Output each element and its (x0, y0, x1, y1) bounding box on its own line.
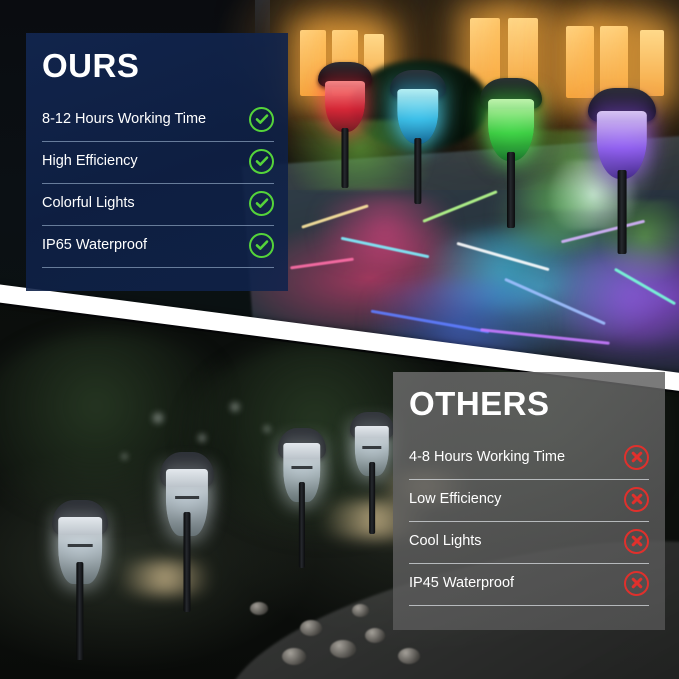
lamp-shade (325, 81, 365, 132)
feature-row: 4-8 Hours Working Time (409, 438, 649, 479)
pebble (282, 648, 306, 665)
lamp-pole (299, 482, 305, 568)
cross-circle-icon (624, 445, 649, 470)
ours-title: OURS (42, 49, 139, 82)
feature-label: High Efficiency (42, 153, 138, 169)
cross-circle-icon (624, 529, 649, 554)
shade-band (68, 544, 93, 547)
feature-row: 8-12 Hours Working Time (42, 100, 274, 141)
feature-label: Colorful Lights (42, 195, 135, 211)
feature-row: IP45 Waterproof (409, 564, 649, 605)
solar-lamp-white (350, 412, 394, 532)
feature-row: Cool Lights (409, 522, 649, 563)
feature-label: Low Efficiency (409, 491, 501, 507)
ours-feature-list: 8-12 Hours Working TimeHigh EfficiencyCo… (42, 100, 274, 268)
pebble (330, 640, 356, 658)
others-title: OTHERS (409, 387, 550, 420)
feature-label: IP45 Waterproof (409, 575, 514, 591)
shade-band (362, 446, 381, 449)
lamp-pole (414, 138, 421, 204)
solar-lamp-cyan (390, 70, 446, 195)
feature-divider (409, 605, 649, 606)
feature-row: Colorful Lights (42, 184, 274, 225)
pebble (250, 602, 268, 615)
bokeh-light (150, 410, 166, 426)
bokeh-light (262, 424, 272, 434)
feature-row: Low Efficiency (409, 480, 649, 521)
pebble (365, 628, 385, 643)
solar-lamp-purple (588, 88, 656, 243)
ours-panel: OURS 8-12 Hours Working TimeHigh Efficie… (26, 33, 288, 291)
bokeh-light (228, 400, 242, 414)
lamp-pole (183, 512, 190, 612)
pebble (300, 620, 322, 636)
solar-lamp-red (318, 62, 372, 177)
lamp-pole (618, 170, 627, 254)
shade-band (291, 466, 312, 469)
feature-label: 4-8 Hours Working Time (409, 449, 565, 465)
comparison-infographic: OURS 8-12 Hours Working TimeHigh Efficie… (0, 0, 679, 679)
solar-lamp-white (278, 428, 326, 568)
lamp-pole (507, 152, 515, 228)
lamp-shade (597, 111, 647, 179)
lamp-pole (341, 128, 348, 188)
feature-divider (42, 267, 274, 268)
feature-row: High Efficiency (42, 142, 274, 183)
pebble (398, 648, 420, 664)
solar-lamp-white (160, 452, 214, 612)
check-circle-icon (249, 149, 274, 174)
check-circle-icon (249, 191, 274, 216)
check-circle-icon (249, 107, 274, 132)
bokeh-light (120, 452, 129, 461)
feature-label: IP65 Waterproof (42, 237, 147, 253)
cross-circle-icon (624, 571, 649, 596)
others-panel: OTHERS 4-8 Hours Working TimeLow Efficie… (393, 372, 665, 630)
feature-label: Cool Lights (409, 533, 482, 549)
shade-band (175, 496, 199, 499)
feature-row: IP65 Waterproof (42, 226, 274, 267)
lamp-pole (369, 462, 375, 534)
feature-label: 8-12 Hours Working Time (42, 111, 206, 127)
house-window (640, 30, 664, 96)
bokeh-light (196, 432, 208, 444)
solar-lamp-white (52, 500, 108, 660)
cross-circle-icon (624, 487, 649, 512)
pebble (352, 604, 369, 617)
check-circle-icon (249, 233, 274, 258)
others-feature-list: 4-8 Hours Working TimeLow EfficiencyCool… (409, 438, 649, 606)
solar-lamp-green (480, 78, 542, 218)
lamp-pole (76, 562, 83, 660)
